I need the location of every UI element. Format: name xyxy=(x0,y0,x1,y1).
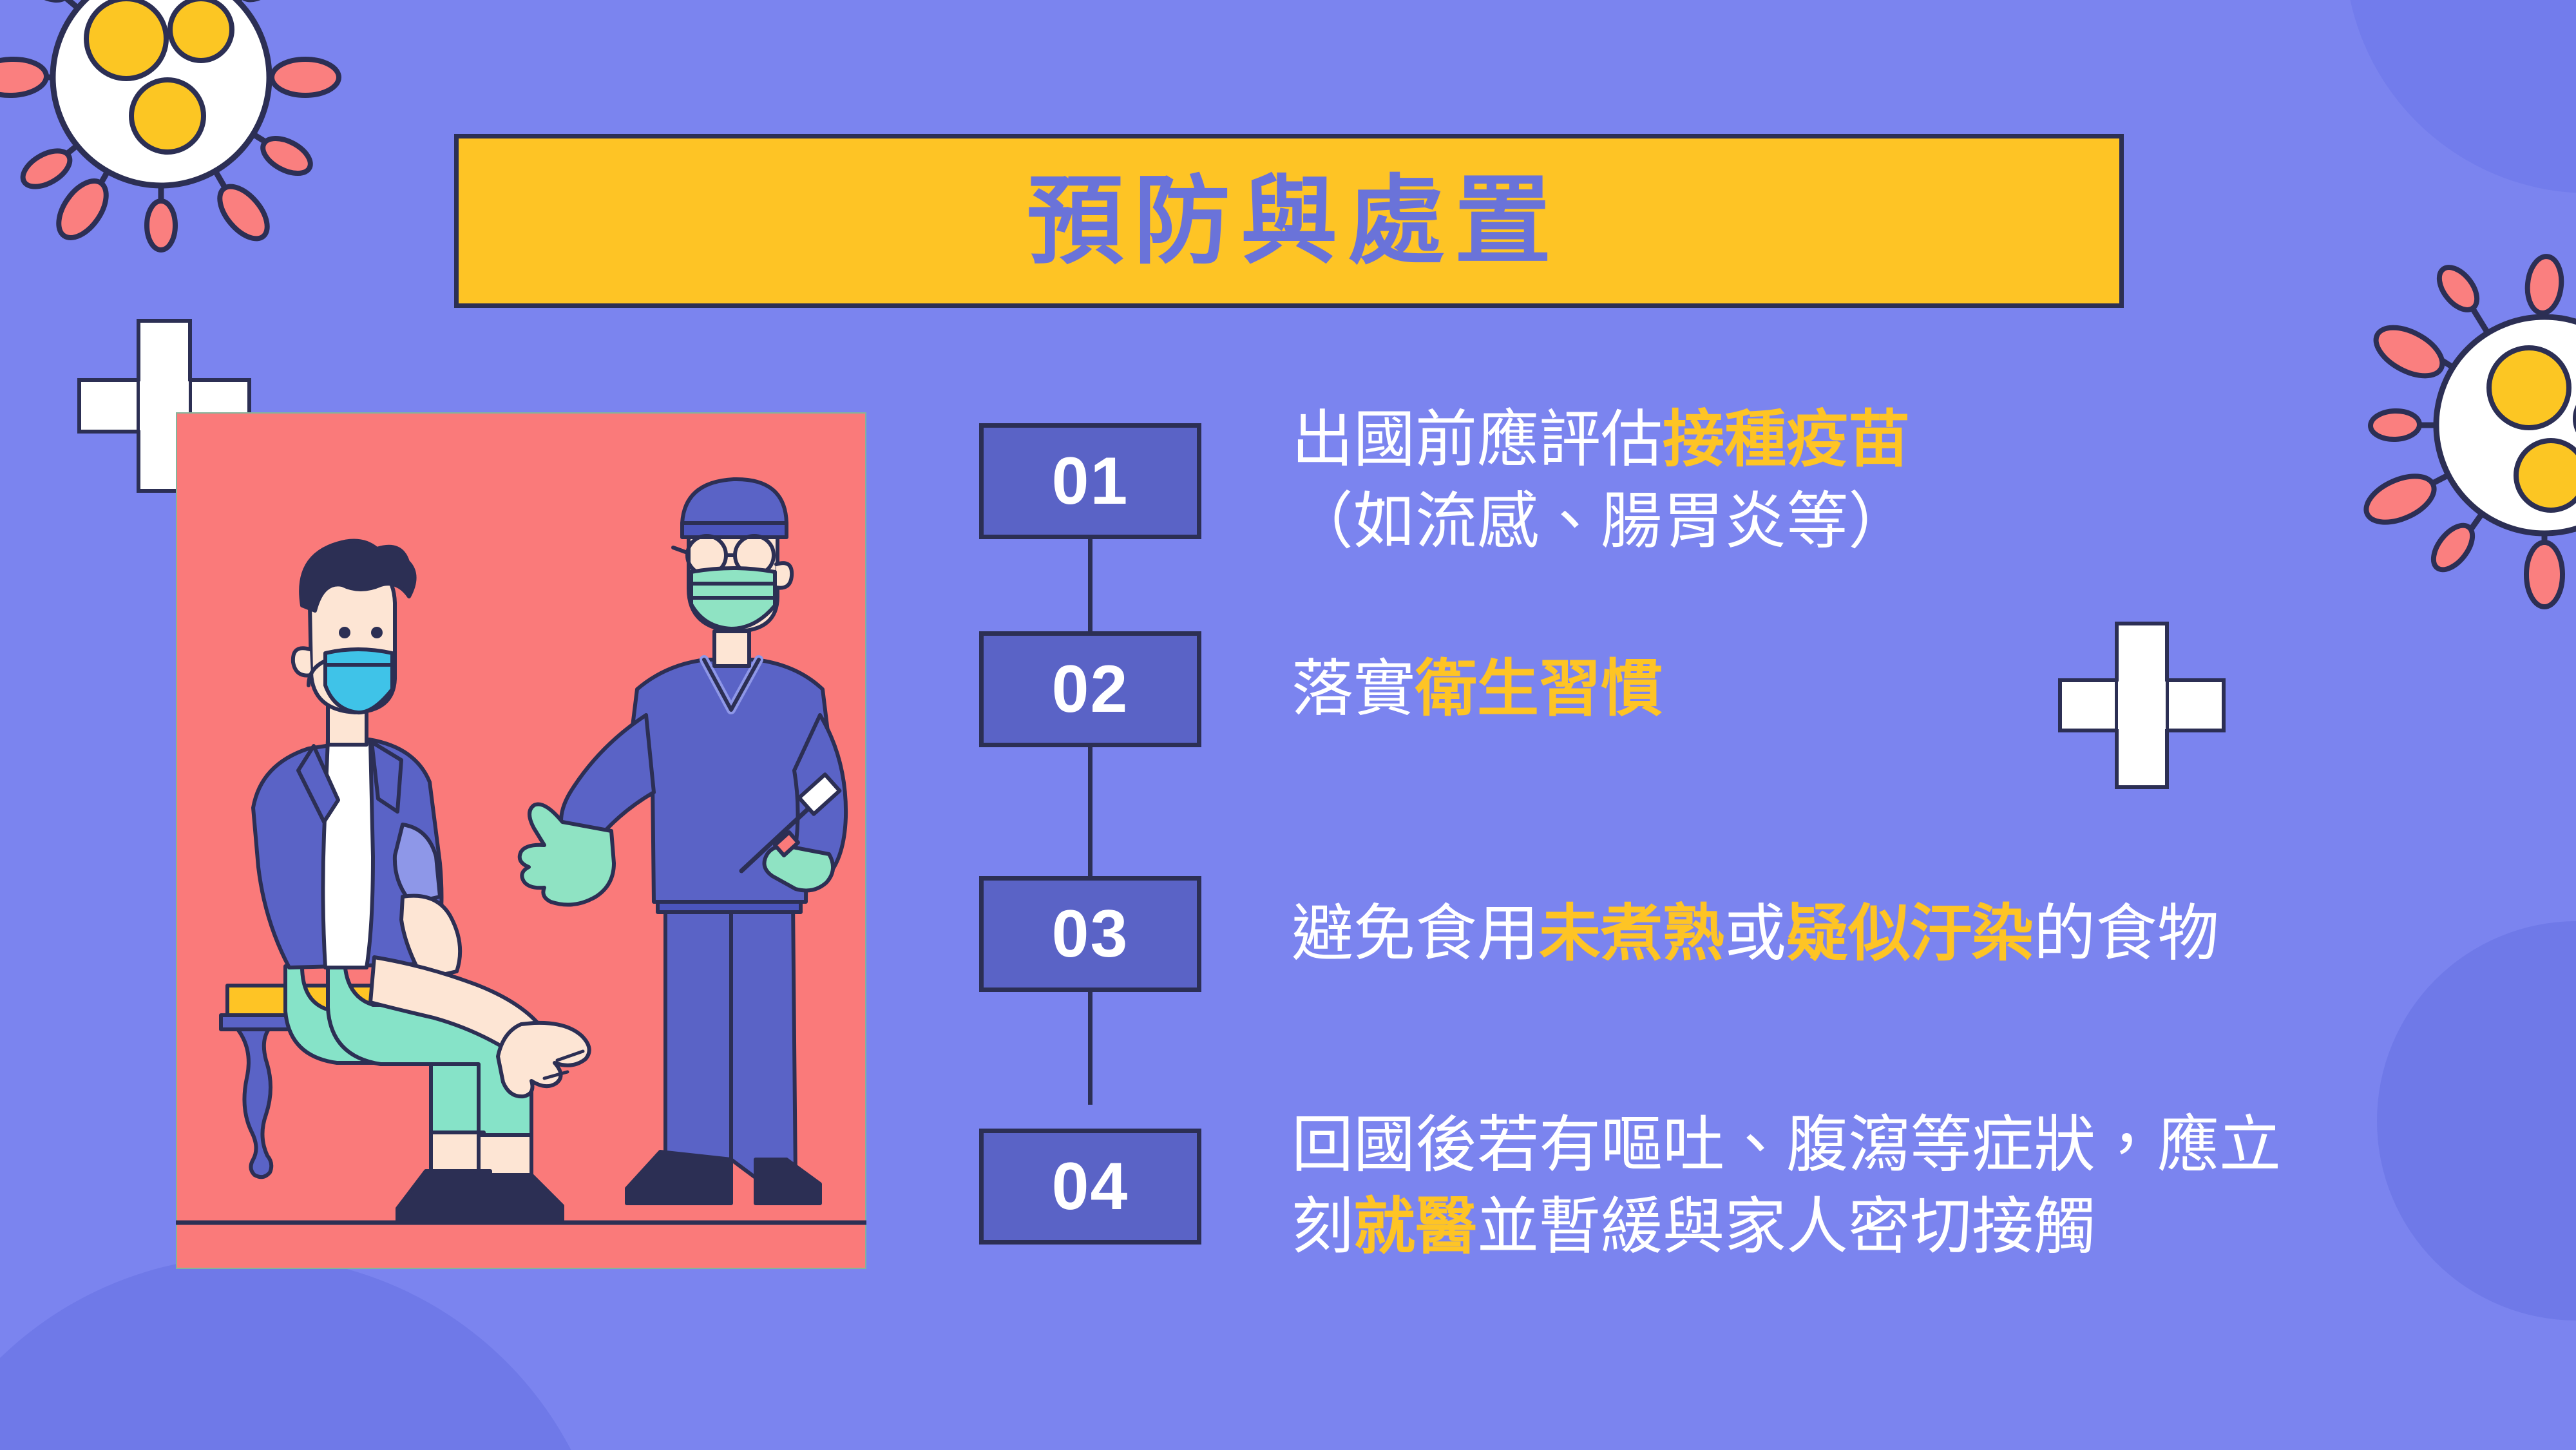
step-text-segment: 出國前應評估 xyxy=(1292,405,1663,474)
step-badge-04[interactable]: 04 xyxy=(979,1129,1201,1245)
step-text-highlight: 未煮熟 xyxy=(1539,899,1724,968)
step-number: 03 xyxy=(1052,901,1129,968)
step-number: 04 xyxy=(1052,1153,1129,1220)
step-badge-02[interactable]: 02 xyxy=(979,631,1201,747)
step-number: 02 xyxy=(1052,656,1129,723)
background-circle-top-right xyxy=(2345,0,2576,193)
step-text-segment: 刻 xyxy=(1292,1192,1353,1261)
step-text-segment: 回國後若有嘔吐、腹瀉等症狀，應立 xyxy=(1292,1111,2281,1179)
title-banner: 預防與處置 xyxy=(454,134,2124,308)
step-text-segment: 落實 xyxy=(1292,654,1415,723)
step-connector xyxy=(1088,747,1092,876)
steps-list: 01 出國前應評估接種疫苗 （如流感、腸胃炎等） 02 落實衛生習慣 xyxy=(979,399,2525,1314)
step-text-line: 出國前應評估接種疫苗 xyxy=(1292,399,1910,481)
step-text-02: 落實衛生習慣 xyxy=(1292,649,1663,730)
step-text-04: 回國後若有嘔吐、腹瀉等症狀，應立 刻就醫並暫緩與家人密切接觸 xyxy=(1292,1105,2281,1268)
step-text-segment: 避免食用 xyxy=(1292,899,1539,968)
step-text-line: 落實衛生習慣 xyxy=(1292,649,1663,730)
step-text-line: 避免食用未煮熟或疑似汙染的食物 xyxy=(1292,893,2219,975)
step-text-line: （如流感、腸胃炎等） xyxy=(1292,481,1910,563)
step-text-line: 回國後若有嘔吐、腹瀉等症狀，應立 xyxy=(1292,1105,2281,1187)
step-text-highlight: 疑似汙染 xyxy=(1786,899,2034,968)
step-text-segment: 並暫緩與家人密切接觸 xyxy=(1477,1192,2095,1261)
step-badge-03[interactable]: 03 xyxy=(979,876,1201,992)
step-text-01: 出國前應評估接種疫苗 （如流感、腸胃炎等） xyxy=(1292,399,1910,562)
step-text-line: 刻就醫並暫緩與家人密切接觸 xyxy=(1292,1187,2281,1268)
step-item-03[interactable]: 03 避免食用未煮熟或疑似汙染的食物 xyxy=(979,876,2219,992)
step-connector xyxy=(1088,992,1092,1105)
virus-icon xyxy=(0,0,361,277)
step-text-segment: （如流感、腸胃炎等） xyxy=(1292,487,1910,556)
step-text-segment: 的食物 xyxy=(2034,899,2219,968)
step-text-segment: 或 xyxy=(1724,899,1786,968)
step-number: 01 xyxy=(1052,448,1129,515)
step-item-02[interactable]: 02 落實衛生習慣 xyxy=(979,631,1663,747)
step-text-03: 避免食用未煮熟或疑似汙染的食物 xyxy=(1292,893,2219,975)
step-item-04[interactable]: 04 回國後若有嘔吐、腹瀉等症狀，應立 刻就醫並暫緩與家人密切接觸 xyxy=(979,1105,2281,1268)
vaccination-illustration xyxy=(176,412,866,1269)
background-circle-bottom-left xyxy=(0,1256,612,1450)
step-text-highlight: 衛生習慣 xyxy=(1415,654,1663,723)
step-text-highlight: 接種疫苗 xyxy=(1663,405,1910,474)
step-text-highlight: 就醫 xyxy=(1353,1192,1477,1261)
slide-canvas: 預防與處置 01 出國前應評估接種疫苗 （如流感、腸胃炎等） 02 xyxy=(0,0,2576,1450)
page-title: 預防與處置 xyxy=(1016,173,1561,269)
step-item-01[interactable]: 01 出國前應評估接種疫苗 （如流感、腸胃炎等） xyxy=(979,399,1910,562)
step-badge-01[interactable]: 01 xyxy=(979,423,1201,539)
